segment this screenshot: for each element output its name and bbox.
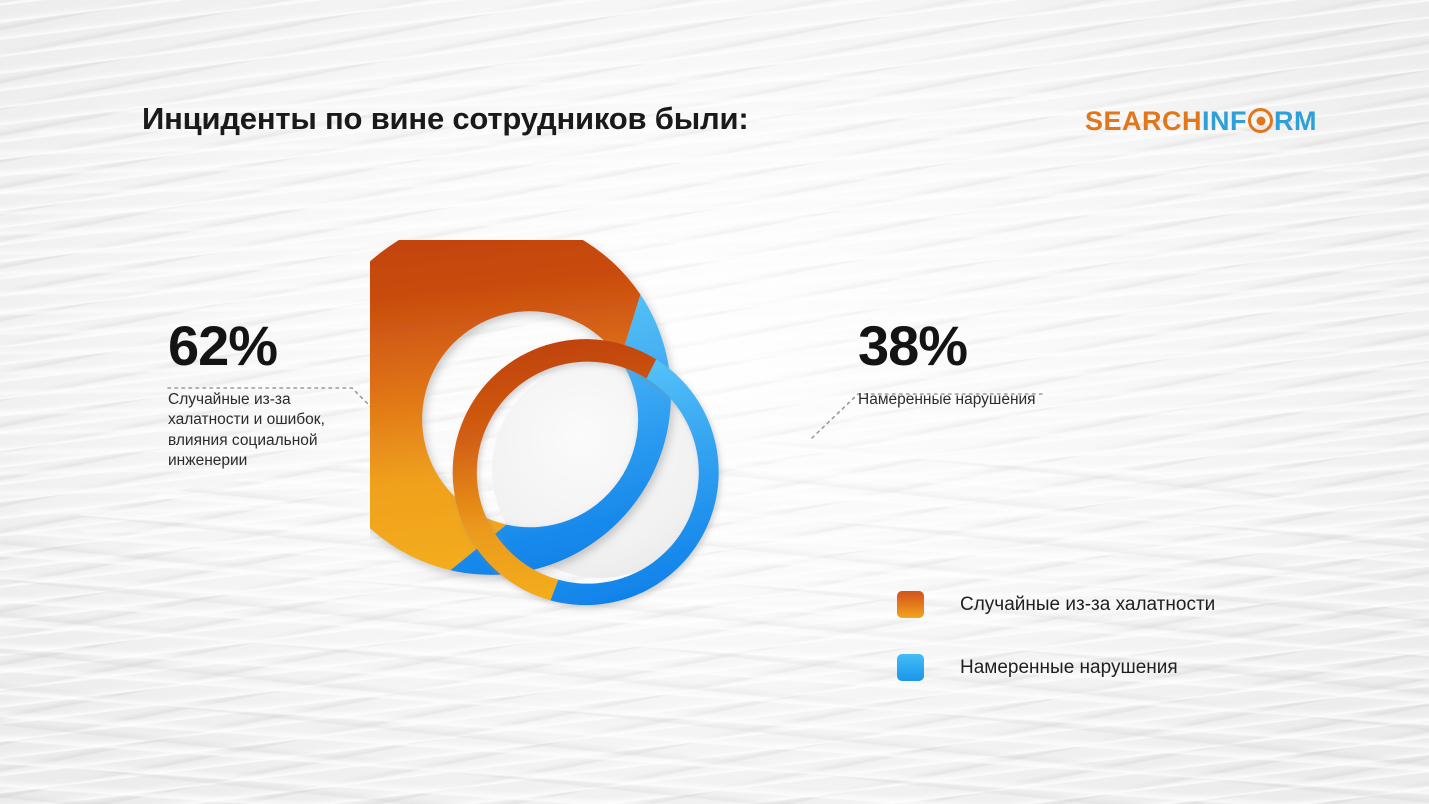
callout-right-percent: 38% bbox=[858, 318, 1058, 374]
target-o-icon bbox=[1248, 108, 1273, 133]
callout-right: 38% Намеренные нарушения bbox=[858, 318, 1058, 410]
logo-text-rm: RM bbox=[1274, 106, 1317, 137]
slide-canvas: Инциденты по вине сотрудников были: SEAR… bbox=[0, 0, 1429, 804]
callout-left-percent: 62% bbox=[168, 318, 368, 374]
logo-text-inf: INF bbox=[1202, 106, 1247, 137]
legend-swatch-blue-icon bbox=[897, 654, 924, 681]
legend-item-intentional: Намеренные нарушения bbox=[897, 651, 1215, 684]
donut-chart bbox=[370, 240, 830, 700]
legend-swatch-orange-icon bbox=[897, 591, 924, 618]
page-title: Инциденты по вине сотрудников были: bbox=[142, 101, 748, 137]
callout-right-description: Намеренные нарушения bbox=[858, 390, 1058, 410]
callout-left-description: Случайные из-за халатности и ошибок, вли… bbox=[168, 390, 368, 472]
chart-legend: Случайные из-за халатности Намеренные на… bbox=[897, 588, 1215, 714]
legend-label-accidental: Случайные из-за халатности bbox=[960, 594, 1215, 616]
logo-text-search: SEARCH bbox=[1085, 106, 1202, 137]
searchinform-logo: SEARCHINFRM bbox=[1085, 106, 1317, 137]
callout-left: 62% Случайные из-за халатности и ошибок,… bbox=[168, 318, 368, 472]
legend-label-intentional: Намеренные нарушения bbox=[960, 657, 1178, 679]
legend-item-accidental: Случайные из-за халатности bbox=[897, 588, 1215, 621]
